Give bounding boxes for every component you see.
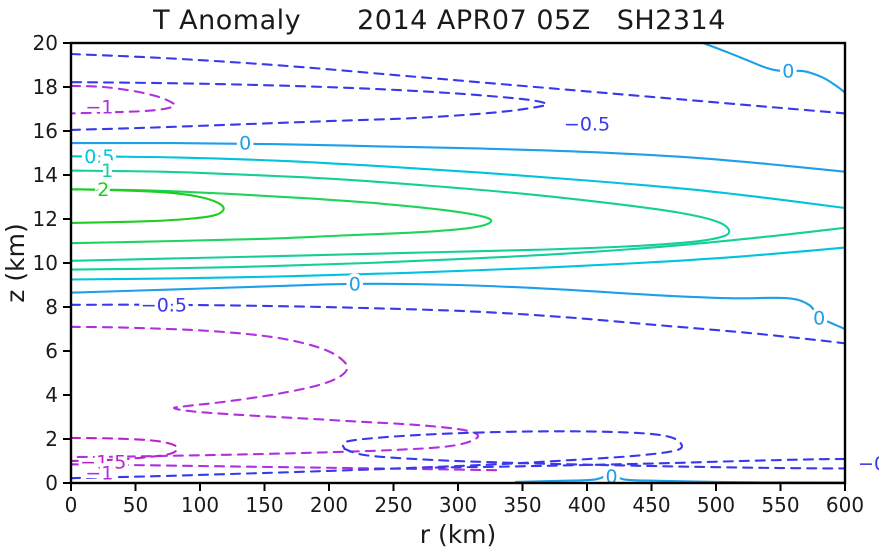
contour-label: 0	[239, 133, 251, 155]
x-tick-label: 350	[503, 493, 541, 517]
contour-labels-group: −1−1−0.5−0.5000.50.5112200−0.5−0.50000−1…	[80, 61, 879, 488]
contour-line-neg0p5	[71, 82, 547, 130]
x-tick-label: 450	[632, 493, 670, 517]
axis-ticks-group: 0501001502002503003504004505005506000246…	[33, 31, 865, 517]
contour-line-0	[71, 284, 845, 329]
y-tick-label: 12	[33, 207, 58, 231]
y-tick-label: 2	[45, 427, 58, 451]
contour-label: 0	[605, 466, 617, 488]
contour-label: 0	[813, 308, 825, 330]
x-axis-label: r (km)	[420, 520, 497, 549]
contour-label: −0.5	[858, 453, 879, 475]
contour-lines-group	[71, 43, 879, 483]
x-tick-label: 100	[181, 493, 219, 517]
y-tick-label: 8	[45, 295, 58, 319]
contour-label: 0	[782, 61, 794, 83]
y-tick-label: 20	[33, 31, 58, 55]
x-tick-label: 250	[374, 493, 412, 517]
x-tick-label: 400	[568, 493, 606, 517]
x-tick-label: 200	[310, 493, 348, 517]
x-tick-label: 0	[65, 493, 78, 517]
contour-label: 2	[97, 179, 109, 201]
contour-line-neg1	[71, 327, 478, 457]
x-tick-label: 300	[439, 493, 477, 517]
contour-label: −0.5	[141, 294, 187, 316]
contour-label: −1	[85, 96, 113, 118]
y-tick-label: 4	[45, 383, 58, 407]
y-tick-label: 0	[45, 471, 58, 495]
contour-line-neg0p5	[71, 431, 682, 478]
contour-line-0	[703, 43, 845, 93]
contour-line-neg0p5	[71, 305, 845, 344]
y-tick-label: 14	[33, 163, 58, 187]
y-axis-label: z (km)	[1, 223, 30, 302]
contour-line-1p5	[71, 189, 491, 243]
contour-line-0p5	[71, 156, 845, 208]
x-tick-label: 500	[697, 493, 735, 517]
contour-line-0	[516, 475, 845, 482]
contour-label: −1	[85, 463, 113, 485]
x-tick-label: 150	[245, 493, 283, 517]
contour-line-2	[71, 189, 224, 223]
y-tick-label: 10	[33, 251, 58, 275]
x-tick-label: 550	[761, 493, 799, 517]
contour-plot-figure: T Anomaly 2014 APR07 05Z SH2314 −1−1−0.5…	[0, 0, 879, 559]
plot-frame	[71, 43, 845, 483]
y-tick-label: 6	[45, 339, 58, 363]
y-tick-label: 16	[33, 119, 58, 143]
plot-canvas: −1−1−0.5−0.5000.50.5112200−0.5−0.50000−1…	[0, 0, 879, 559]
y-tick-label: 18	[33, 75, 58, 99]
contour-label: 0	[349, 273, 361, 295]
x-tick-label: 600	[826, 493, 864, 517]
contour-label: −0.5	[564, 113, 610, 135]
x-tick-label: 50	[123, 493, 148, 517]
